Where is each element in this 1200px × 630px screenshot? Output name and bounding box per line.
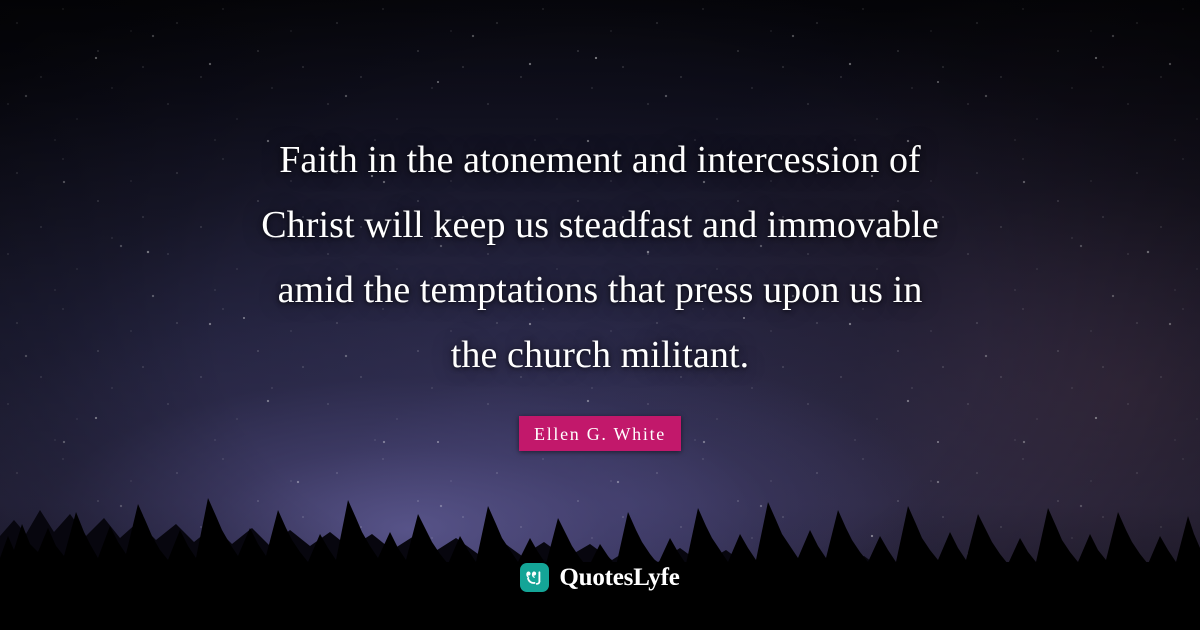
- quote-line: the church militant.: [190, 323, 1010, 388]
- quote-line: Faith in the atonement and intercession …: [190, 128, 1010, 193]
- author-badge[interactable]: Ellen G. White: [519, 416, 681, 451]
- quote-text: Faith in the atonement and intercession …: [190, 128, 1010, 388]
- quote-line: amid the temptations that press upon us …: [190, 258, 1010, 323]
- quote-card: Faith in the atonement and intercession …: [0, 0, 1200, 630]
- quote-line: Christ will keep us steadfast and immova…: [190, 193, 1010, 258]
- brand-name: QuotesLyfe: [559, 565, 679, 590]
- card-content: Faith in the atonement and intercession …: [0, 0, 1200, 630]
- quote-smiley-icon: [520, 563, 549, 592]
- brand-logo[interactable]: QuotesLyfe: [0, 563, 1200, 592]
